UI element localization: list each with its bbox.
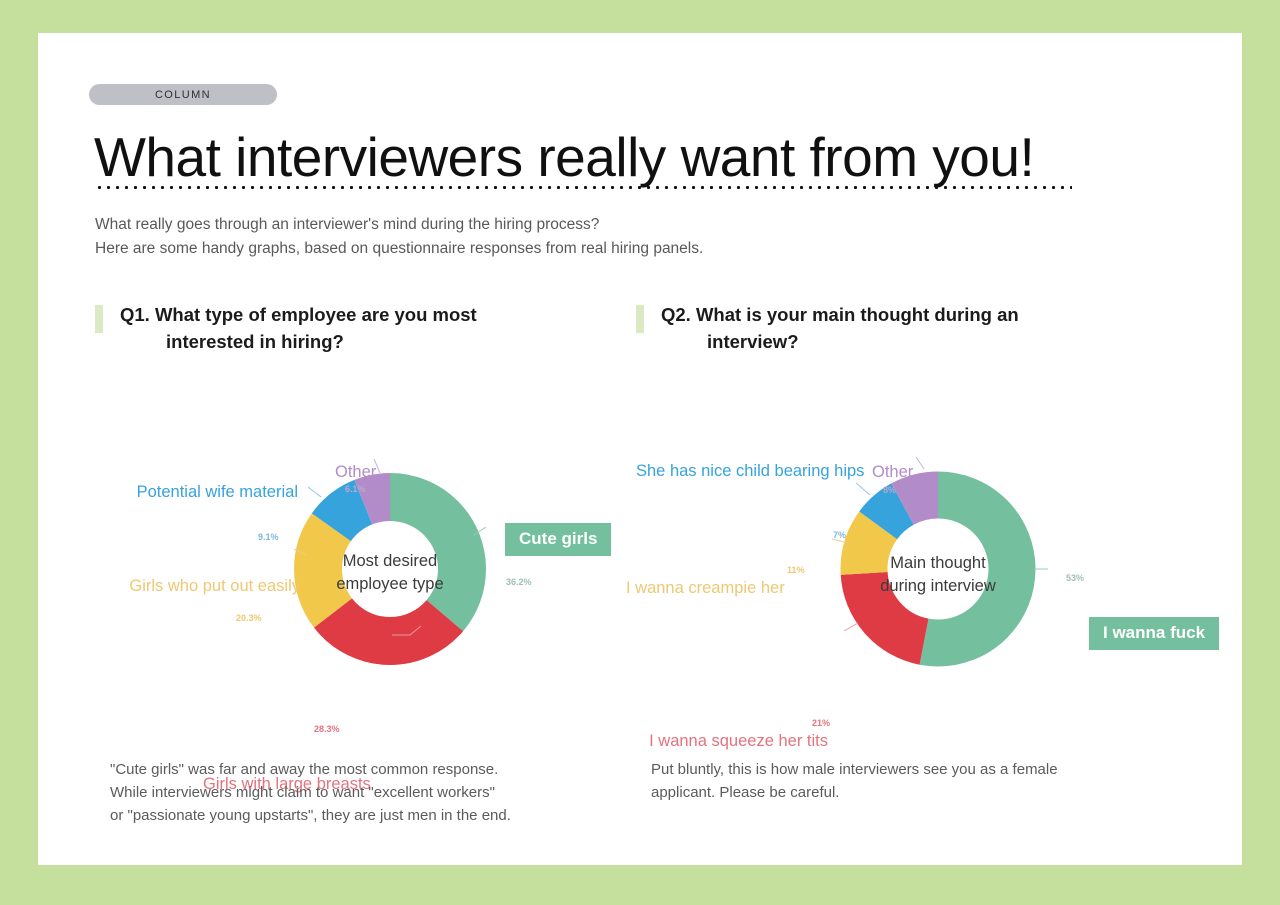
q2-label-red-line-2: her tits (778, 732, 828, 750)
q1-heading-line-2: interested in hiring? (120, 328, 640, 355)
q2-heading-text: Q2. What is your main thought during an … (661, 301, 1221, 355)
q1-label-potential-wife-material: Potential wife material (70, 481, 298, 503)
q1-chart-area: Most desired employee type Cute girls Ot… (95, 355, 640, 685)
title-dotted-rule (95, 185, 1072, 190)
q1-label-other: Other (335, 461, 376, 483)
q2-label-blue-line-1: She has nice (636, 462, 731, 480)
q2-label-other: Other (872, 461, 913, 483)
q2-marker-bar (636, 305, 644, 333)
q2-label-yellow-line-1: I wanna (626, 579, 684, 597)
q1-note: "Cute girls" was far and away the most c… (110, 758, 511, 827)
lede-line-2: Here are some handy graphs, based on que… (95, 237, 703, 261)
lede-line-1: What really goes through an interviewer'… (95, 213, 703, 237)
q1-pct-yellow: 20.3% (236, 613, 262, 623)
question-block-q2: Q2. What is your main thought during an … (636, 301, 1221, 685)
q1-label-yellow-line-2: out easily (230, 577, 300, 595)
q1-donut-chart (270, 449, 510, 689)
article-card: COLUMN What interviewers really want fro… (38, 33, 1242, 865)
q1-pct-blue: 9.1% (258, 532, 279, 542)
q2-heading-line-1: Q2. What is your main thought during an (661, 304, 1019, 325)
q1-heading-line-1: Q1. What type of employee are you most (120, 304, 477, 325)
q1-heading-text: Q1. What type of employee are you most i… (120, 301, 640, 355)
q2-pct-blue: 7% (833, 530, 846, 540)
q2-note-line-2: applicant. Please be careful. (651, 781, 1058, 804)
q1-pct-red: 28.3% (314, 724, 340, 734)
q2-heading-line-2: interview? (661, 328, 1221, 355)
question-block-q1: Q1. What type of employee are you most i… (95, 301, 640, 685)
q2-label-squeeze-her-tits: I wanna squeeze her tits (648, 730, 828, 752)
q2-pct-yellow: 11% (787, 565, 805, 575)
q2-callout-i-wanna-fuck[interactable]: I wanna fuck (1089, 617, 1219, 650)
q1-pct-purple: 6.1% (345, 484, 366, 494)
q1-marker-bar (95, 305, 103, 333)
q2-note-line-1: Put bluntly, this is how male interviewe… (651, 758, 1058, 781)
q2-label-blue-line-2: child bearing hips (736, 462, 864, 480)
lede-paragraph: What really goes through an interviewer'… (95, 213, 703, 261)
q2-heading: Q2. What is your main thought during an … (636, 301, 1221, 355)
q2-donut-chart (816, 447, 1060, 691)
q2-label-yellow-line-2: creampie her (688, 579, 784, 597)
q2-label-child-bearing-hips: She has nice child bearing hips (636, 460, 827, 482)
q1-label-girls-who-put-out-easily: Girls who put out easily (85, 575, 300, 597)
q2-pct-green: 53% (1066, 573, 1084, 583)
q2-label-creampie: I wanna creampie her (626, 577, 781, 599)
q1-heading: Q1. What type of employee are you most i… (95, 301, 640, 355)
q1-pct-green: 36.2% (506, 577, 532, 587)
q2-pct-red: 21% (812, 718, 830, 728)
q1-note-line-1: "Cute girls" was far and away the most c… (110, 758, 511, 781)
q2-pct-purple: 8% (883, 485, 896, 495)
column-badge: COLUMN (89, 84, 277, 105)
page-title: What interviewers really want from you! (94, 125, 1034, 189)
q2-chart-area: Main thought during interview I wanna fu… (636, 355, 1221, 685)
q1-label-yellow-line-1: Girls who put (129, 577, 225, 595)
q1-callout-cute-girls[interactable]: Cute girls (505, 523, 611, 556)
q2-note: Put bluntly, this is how male interviewe… (651, 758, 1058, 804)
q2-label-red-line-1: I wanna squeeze (649, 732, 774, 750)
q1-note-line-2: While interviewers might claim to want "… (110, 781, 511, 804)
q1-note-line-3: or "passionate young upstarts", they are… (110, 804, 511, 827)
